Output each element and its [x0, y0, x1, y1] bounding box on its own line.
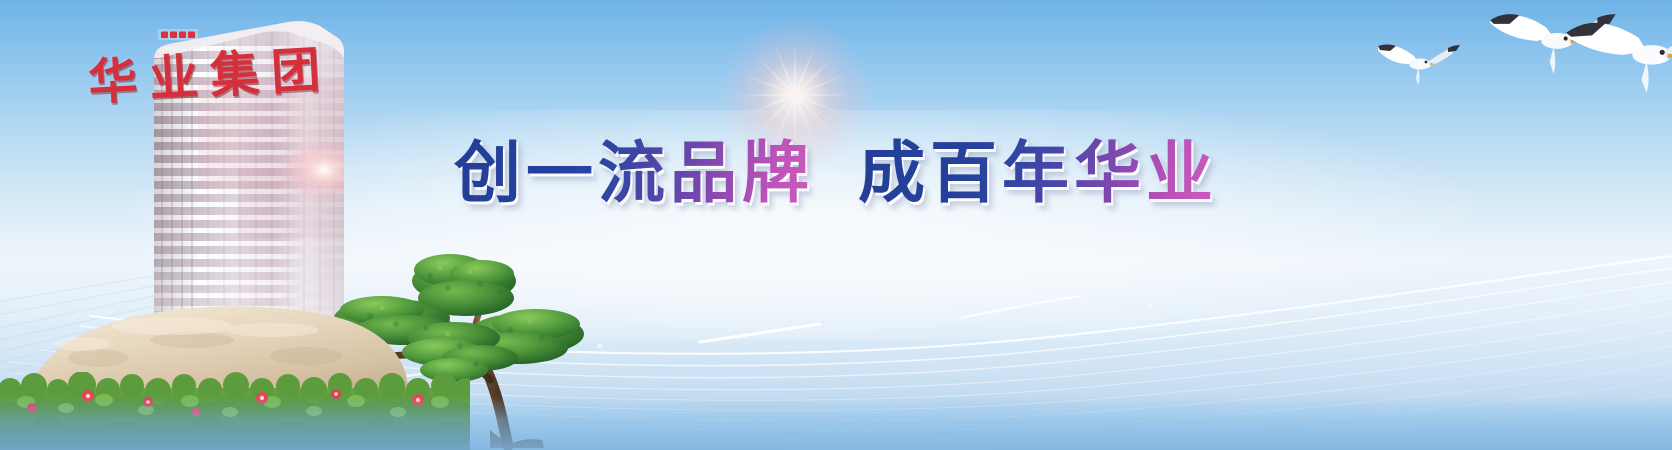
slogan-part-2: 成百年华业: [858, 131, 1218, 215]
main-slogan: 创一流品牌成百年华业: [0, 131, 1672, 215]
seagull-icon: [1378, 14, 1672, 93]
company-hero-banner: 华业集团: [0, 0, 1672, 450]
hedge-foliage: [0, 372, 470, 450]
seagulls-group: [1370, 4, 1672, 114]
slogan-part-1: 创一流品牌: [454, 131, 814, 215]
stone-company-name: 华业集团: [86, 29, 360, 115]
